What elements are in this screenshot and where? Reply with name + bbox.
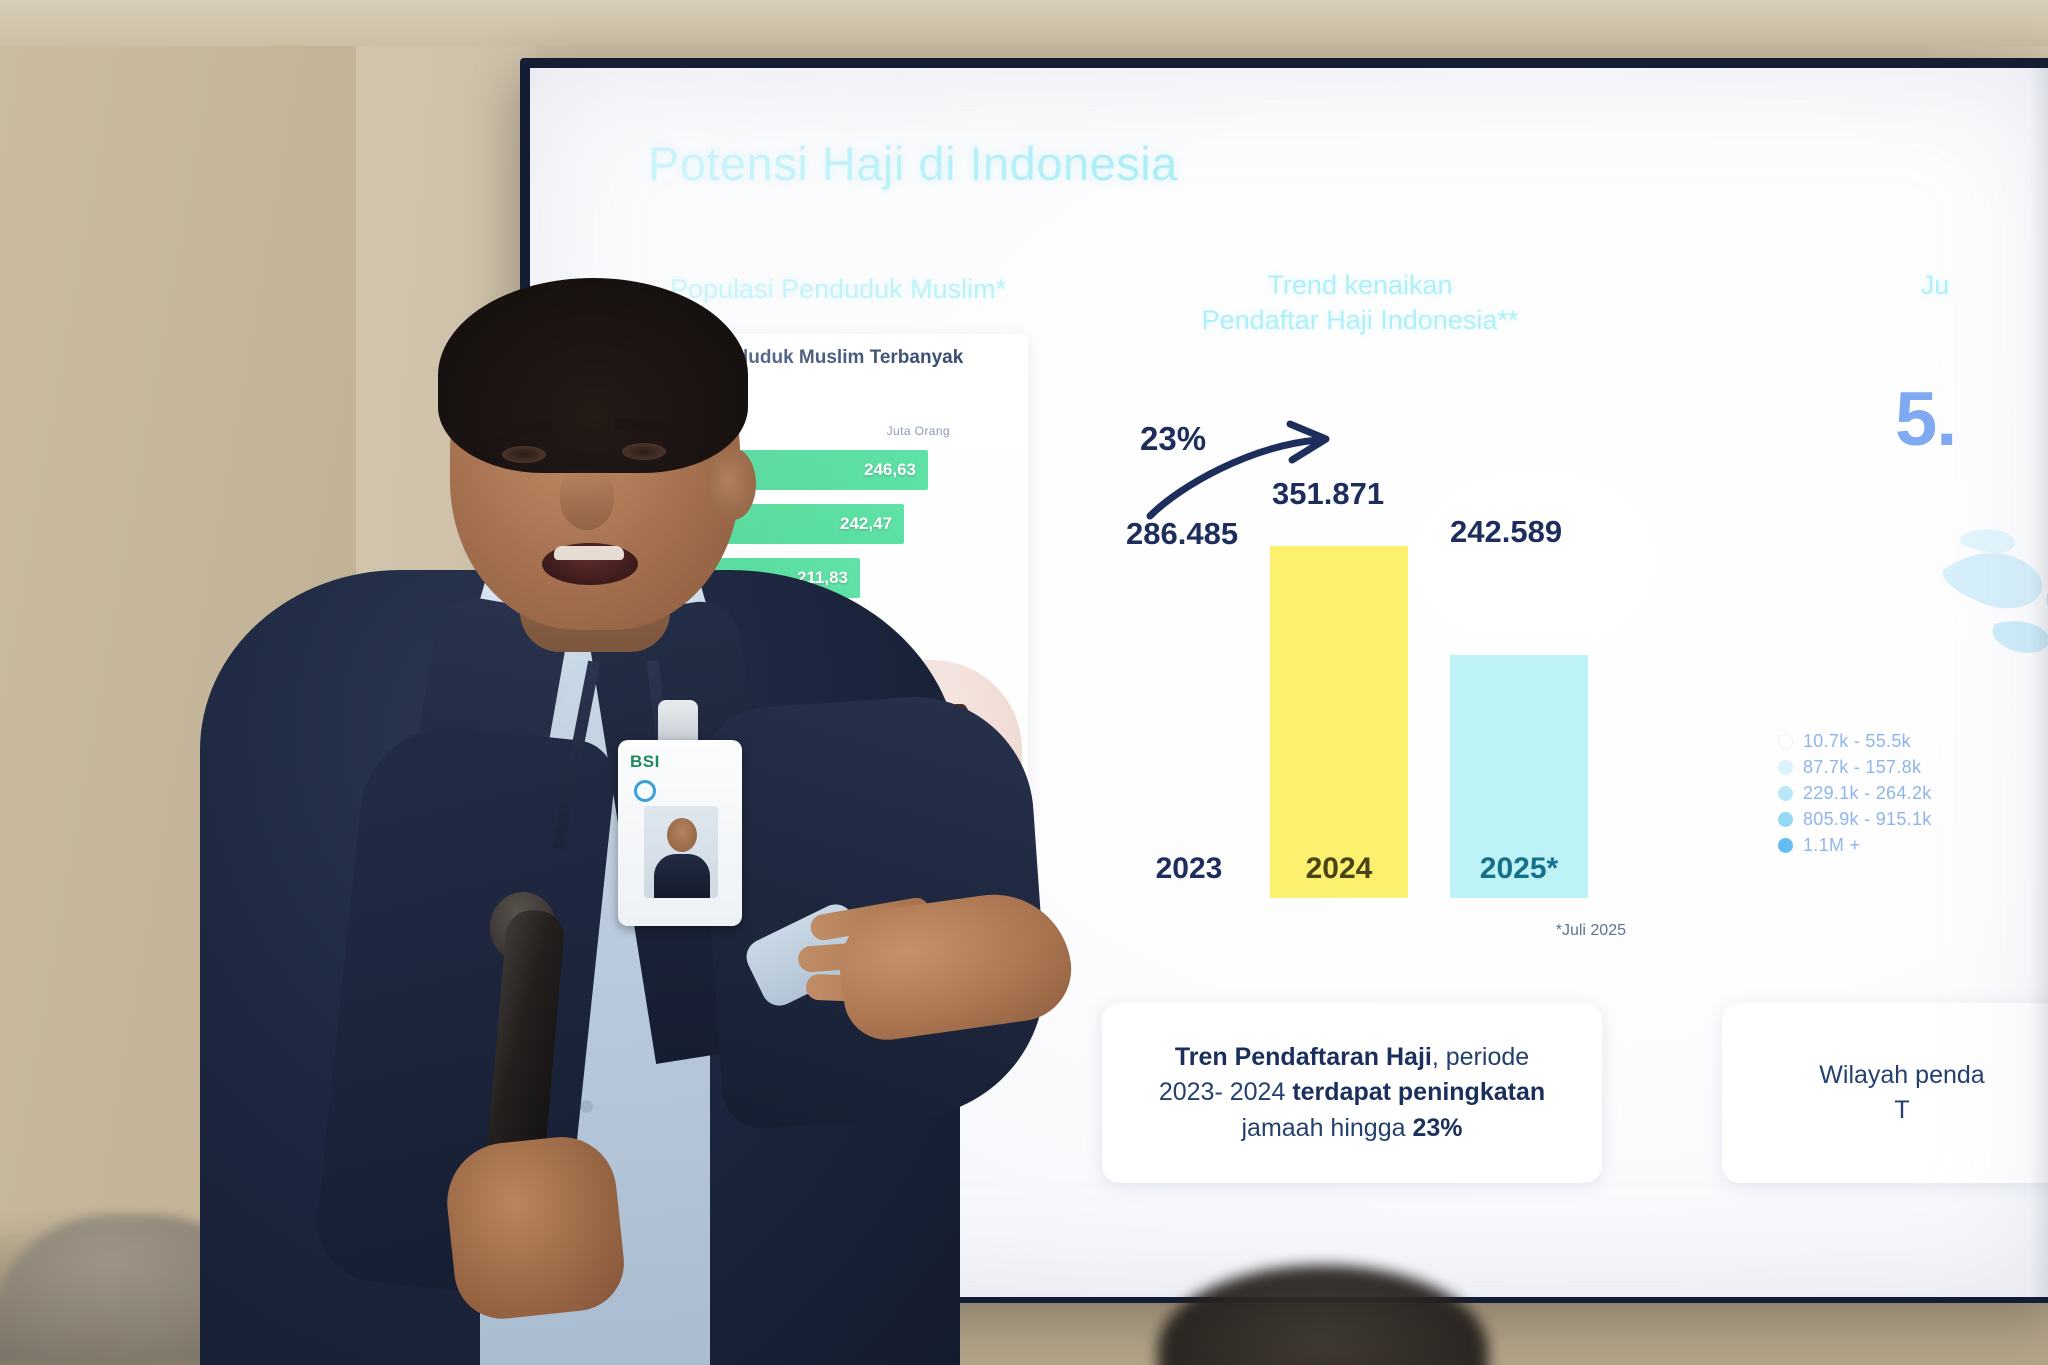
bar-category-2025: 2025*	[1480, 852, 1558, 886]
legend-color-swatch-4	[1778, 838, 1793, 853]
legend-color-swatch-3	[1778, 812, 1793, 827]
list-item: 805.9k - 915.1k	[1778, 806, 1932, 832]
id-badge: BSI	[618, 740, 742, 926]
badge-logo-text: BSI	[630, 752, 660, 772]
presenter-eye-left	[502, 446, 546, 463]
badge-photo-body	[654, 854, 710, 898]
region-info-card: Wilayah penda T	[1722, 1003, 2048, 1183]
legend-label-4: 1.1M +	[1803, 835, 1860, 856]
list-item: 87.7k - 157.8k	[1778, 754, 1932, 780]
column-heading-region: Ju	[1770, 268, 2048, 303]
trend-info-card: Tren Pendaftaran Haji, periode 2023- 202…	[1102, 1003, 1602, 1183]
trend-info-bold-3: 23%	[1412, 1114, 1462, 1142]
trend-info-normal-1: , periode	[1432, 1043, 1529, 1071]
trend-info-normal-2: 2023- 2024	[1159, 1078, 1286, 1106]
presenter-nose	[560, 468, 614, 530]
slide-title: Potensi Haji di Indonesia	[648, 136, 1178, 191]
legend-color-swatch-0	[1778, 734, 1793, 749]
bar-2025: 2025*	[1450, 655, 1588, 898]
bar-label-2025: 242.589	[1450, 514, 1562, 550]
badge-ring-icon	[634, 780, 656, 802]
presenter-eye-right	[622, 443, 666, 460]
presenter-ear	[710, 448, 756, 520]
trend-info-bold-2: terdapat peningkatan	[1292, 1078, 1545, 1106]
column-heading-trend: Trend kenaikan Pendaftar Haji Indonesia*…	[1160, 268, 1560, 338]
map-legend: 10.7k - 55.5k 87.7k - 157.8k 229.1k - 26…	[1778, 728, 1932, 858]
bar-category-2024: 2024	[1306, 852, 1373, 886]
presenter-hair	[438, 278, 748, 473]
trend-info-bold-1: Tren Pendaftaran Haji	[1175, 1043, 1432, 1071]
chart-footnote: *Juli 2025	[1556, 922, 1626, 940]
region-info-line2: T	[1894, 1096, 1909, 1124]
region-info-line1: Wilayah penda	[1819, 1061, 1984, 1089]
badge-photo	[644, 806, 718, 898]
legend-label-3: 805.9k - 915.1k	[1803, 809, 1932, 830]
presenter-hand-holding-microphone	[441, 1132, 628, 1324]
hajj-registration-bar-chart: 23% 286.485 351.871 242.589 2023 2024 20…	[1120, 398, 1620, 958]
legend-label-2: 229.1k - 264.2k	[1803, 783, 1932, 804]
badge-photo-head	[667, 818, 697, 852]
region-map-column: 5. 10.7k - 55.5k 87.7k - 157.8k	[1720, 318, 2048, 978]
legend-label-0: 10.7k - 55.5k	[1803, 731, 1911, 752]
region-big-number: 5.	[1895, 376, 1956, 463]
presenter-teeth	[554, 546, 624, 560]
indonesia-map-icon	[1935, 478, 2048, 708]
region-info-text: Wilayah penda T	[1793, 1058, 2010, 1129]
list-item: 229.1k - 264.2k	[1778, 780, 1932, 806]
trend-info-text: Tren Pendaftaran Haji, periode 2023- 202…	[1133, 1040, 1571, 1147]
presenter-person: BSI	[150, 300, 1150, 1365]
ceiling-strip	[0, 0, 2048, 46]
bar-2024: 2024	[1270, 546, 1408, 898]
column-heading-trend-line2: Pendaftar Haji Indonesia**	[1160, 303, 1560, 338]
trend-info-normal-3: jamaah hingga	[1241, 1114, 1405, 1142]
shirt-button-3	[580, 1100, 593, 1113]
list-item: 1.1M +	[1778, 832, 1932, 858]
legend-color-swatch-2	[1778, 786, 1793, 801]
bar-label-2024: 351.871	[1272, 476, 1384, 512]
legend-label-1: 87.7k - 157.8k	[1803, 757, 1921, 778]
legend-color-swatch-1	[1778, 760, 1793, 775]
column-heading-trend-line1: Trend kenaikan	[1160, 268, 1560, 303]
list-item: 10.7k - 55.5k	[1778, 728, 1932, 754]
